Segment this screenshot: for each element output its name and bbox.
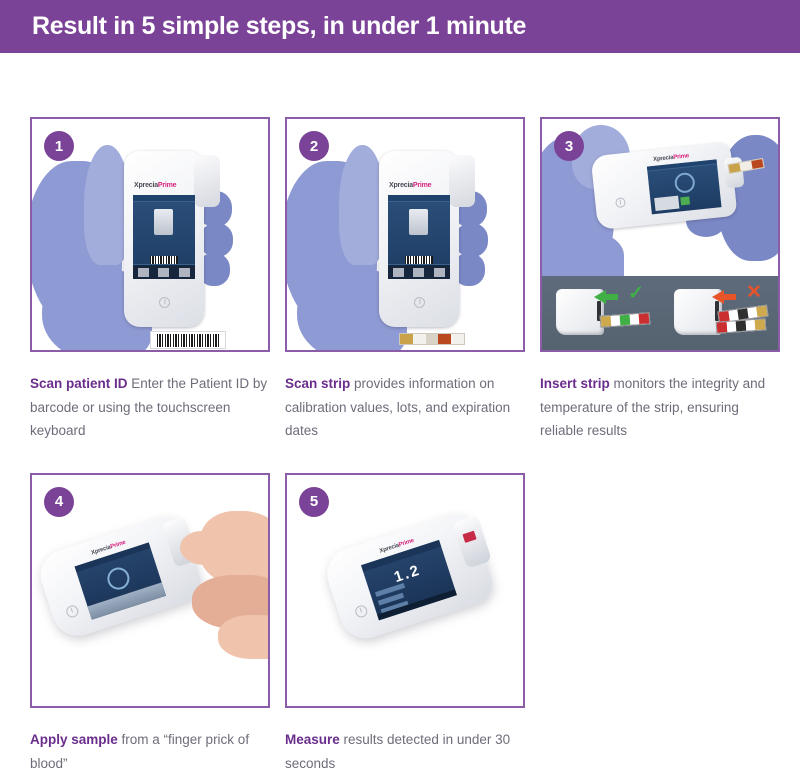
device-body: XpreciaPrime (591, 142, 738, 230)
device-body: XpreciaPrime (379, 151, 459, 327)
device-screen[interactable]: 1.2 (361, 540, 457, 621)
screen-status-bar (388, 195, 450, 202)
screen-toolbar[interactable] (377, 589, 457, 620)
barcode-icon (157, 334, 219, 347)
power-button-icon[interactable] (615, 197, 626, 208)
strip-contact-zone (400, 334, 413, 344)
device-body: XpreciaPrime (34, 512, 206, 643)
steps-container: 1 XpreciaPrime (0, 117, 800, 775)
device-screen[interactable] (647, 159, 722, 214)
power-button-icon[interactable] (65, 604, 80, 619)
device-brand-label: XpreciaPrime (389, 182, 431, 189)
correct-checkmark-icon: ✓ (628, 284, 644, 303)
device-brand-label: XpreciaPrime (134, 182, 176, 189)
screen-toolbar[interactable] (133, 264, 195, 279)
strip-sample-zone (751, 159, 764, 169)
device-strip-port (194, 155, 220, 207)
power-button-icon[interactable] (159, 297, 170, 308)
device-body: XpreciaPrime (124, 151, 204, 327)
step-card-5: 5 XpreciaPrime 1.2 (285, 473, 525, 775)
screen-blood-graphic-icon (401, 237, 437, 253)
screen-blood-graphic-icon (146, 237, 182, 253)
power-button-icon[interactable] (354, 604, 369, 619)
hand-wrist-icon (218, 615, 270, 659)
strip-correct-orientation (600, 312, 651, 327)
diagram-incorrect-panel: ✕ (660, 276, 778, 350)
step-image-1: 1 XpreciaPrime (30, 117, 270, 352)
glove-finger-icon (455, 223, 488, 257)
test-strip (399, 333, 465, 345)
screen-strip-graphic-icon (409, 209, 428, 235)
device-screen[interactable] (133, 195, 195, 279)
step-image-4: 4 XpreciaPrime (30, 473, 270, 708)
device-screen[interactable] (388, 195, 450, 279)
step-lead-5: Measure (285, 732, 340, 747)
strip-incorrect-orientation-b (716, 318, 767, 333)
screen-barcode-graphic-icon (405, 256, 433, 264)
screen-toolbar[interactable] (388, 264, 450, 279)
strip-sample-zone (438, 334, 451, 344)
step-number-badge-2: 2 (299, 131, 329, 161)
step-number-badge-1: 1 (44, 131, 74, 161)
insertion-direction-diagram: ✓ (542, 276, 778, 350)
screen-barcode-graphic-icon (150, 256, 178, 264)
device-strip-port (449, 155, 475, 207)
device-screen[interactable] (75, 542, 166, 619)
strip-mid-zone (426, 334, 439, 344)
diagram-correct-panel: ✓ (542, 276, 660, 350)
green-arrow-tail-icon (604, 294, 618, 300)
step-lead-4: Apply sample (30, 732, 118, 747)
device-strip-port (452, 515, 492, 569)
screen-progress-ring-icon (105, 565, 133, 593)
strip-end-zone (451, 334, 464, 344)
step-caption-2: Scan strip provides information on calib… (285, 372, 525, 443)
screen-strip-graphic-icon (88, 582, 167, 619)
power-button-icon[interactable] (414, 297, 425, 308)
patient-id-barcode-label (150, 331, 226, 349)
screen-status-bar (133, 195, 195, 202)
step-number-badge-4: 4 (44, 487, 74, 517)
screen-strip-graphic-icon (654, 196, 679, 211)
step-lead-1: Scan patient ID (30, 376, 128, 391)
measurement-result-value: 1.2 (392, 561, 423, 585)
orange-arrow-tail-icon (722, 294, 736, 300)
steps-row-two: 4 XpreciaPrime (30, 473, 770, 775)
step-card-2: 2 XpreciaPrime (285, 117, 525, 443)
page-title: Result in 5 simple steps, in under 1 min… (32, 12, 526, 41)
screen-ok-indicator-icon (680, 196, 690, 205)
strip-contact-zone (755, 319, 765, 330)
step-card-1: 1 XpreciaPrime (30, 117, 270, 443)
step-image-5: 5 XpreciaPrime 1.2 (285, 473, 525, 708)
strip-body-zone (413, 334, 426, 344)
step-image-2: 2 XpreciaPrime (285, 117, 525, 352)
incorrect-cross-icon: ✕ (746, 283, 762, 302)
glove-finger-icon (200, 223, 233, 257)
screen-strip-graphic-icon (154, 209, 173, 235)
step-number-badge-5: 5 (299, 487, 329, 517)
step-caption-1: Scan patient ID Enter the Patient ID by … (30, 372, 270, 443)
steps-row-one: 1 XpreciaPrime (30, 117, 770, 443)
step-card-4: 4 XpreciaPrime (30, 473, 270, 775)
device-body: XpreciaPrime 1.2 (321, 509, 498, 645)
strip-sample-zone (639, 313, 649, 324)
step-card-3: 3 XpreciaPrime (540, 117, 780, 443)
step-caption-3: Insert strip monitors the integrity and … (540, 372, 780, 443)
step-lead-3: Insert strip (540, 376, 610, 391)
strip-contact-zone (757, 306, 768, 317)
step-lead-2: Scan strip (285, 376, 350, 391)
hand-icon (200, 511, 270, 583)
screen-progress-ring-icon (674, 172, 696, 194)
step-image-3: 3 XpreciaPrime (540, 117, 780, 352)
device-brand-label: XpreciaPrime (653, 153, 689, 163)
step-number-badge-3: 3 (554, 131, 584, 161)
page-header: Result in 5 simple steps, in under 1 min… (0, 0, 800, 53)
step-slot-empty (540, 473, 770, 775)
